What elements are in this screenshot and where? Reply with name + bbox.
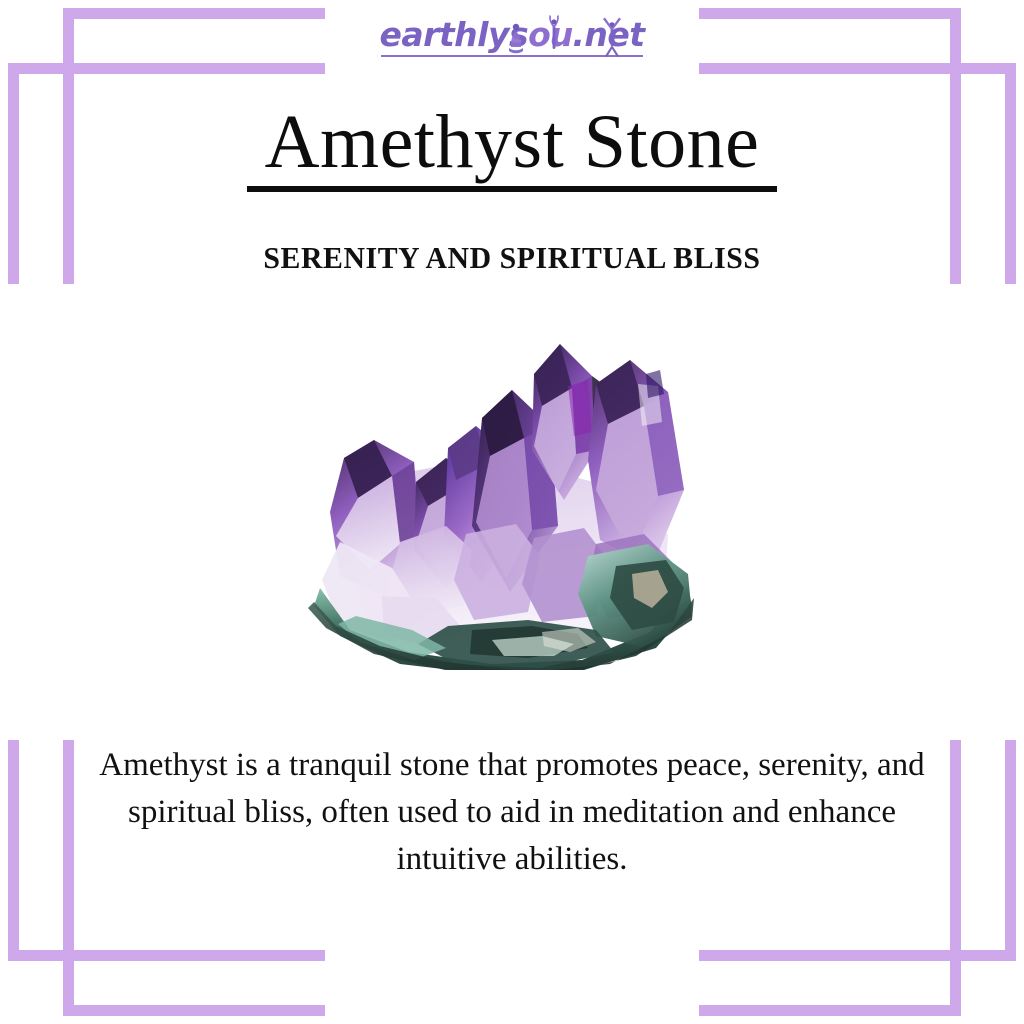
frame-top-left-inner-horizontal [8,63,325,74]
description-text: Amethyst is a tranquil stone that promot… [96,742,928,883]
poster-canvas: earthlysou.net [0,0,1024,1024]
logo-underline [381,55,642,57]
frame-bottom-left-inner-vertical [8,740,19,961]
amethyst-crystal-image [296,330,706,670]
logo-text-part-4: t [629,15,644,54]
logo-inner: earthlysou.net [379,18,644,51]
frame-top-right-inner-horizontal [699,63,1016,74]
frame-bottom-left-outer-horizontal [63,1005,325,1016]
page-title-underline [247,186,777,192]
frame-bottom-right-inner-vertical [1005,740,1016,961]
page-title: Amethyst Stone [0,104,1024,180]
page-subtitle: SERENITY AND SPIRITUAL BLISS [20,240,1003,276]
logo-text-part-2: ou [528,15,572,54]
amethyst-crystal-svg [296,330,706,670]
frame-bottom-left-outer-vertical [63,740,74,1016]
logo-text-part-3: .ne [572,15,629,54]
logo-text-part-1: earthlys [379,15,528,54]
site-logo[interactable]: earthlysou.net [0,18,1024,64]
frame-bottom-left-inner-horizontal [8,950,325,961]
crystal-shadow-indigo [646,370,664,398]
frame-bottom-right-outer-vertical [950,740,961,1016]
frame-bottom-right-outer-horizontal [699,1005,961,1016]
frame-bottom-right-inner-horizontal [699,950,1016,961]
logo-wordmark: earthlysou.net [379,18,644,51]
